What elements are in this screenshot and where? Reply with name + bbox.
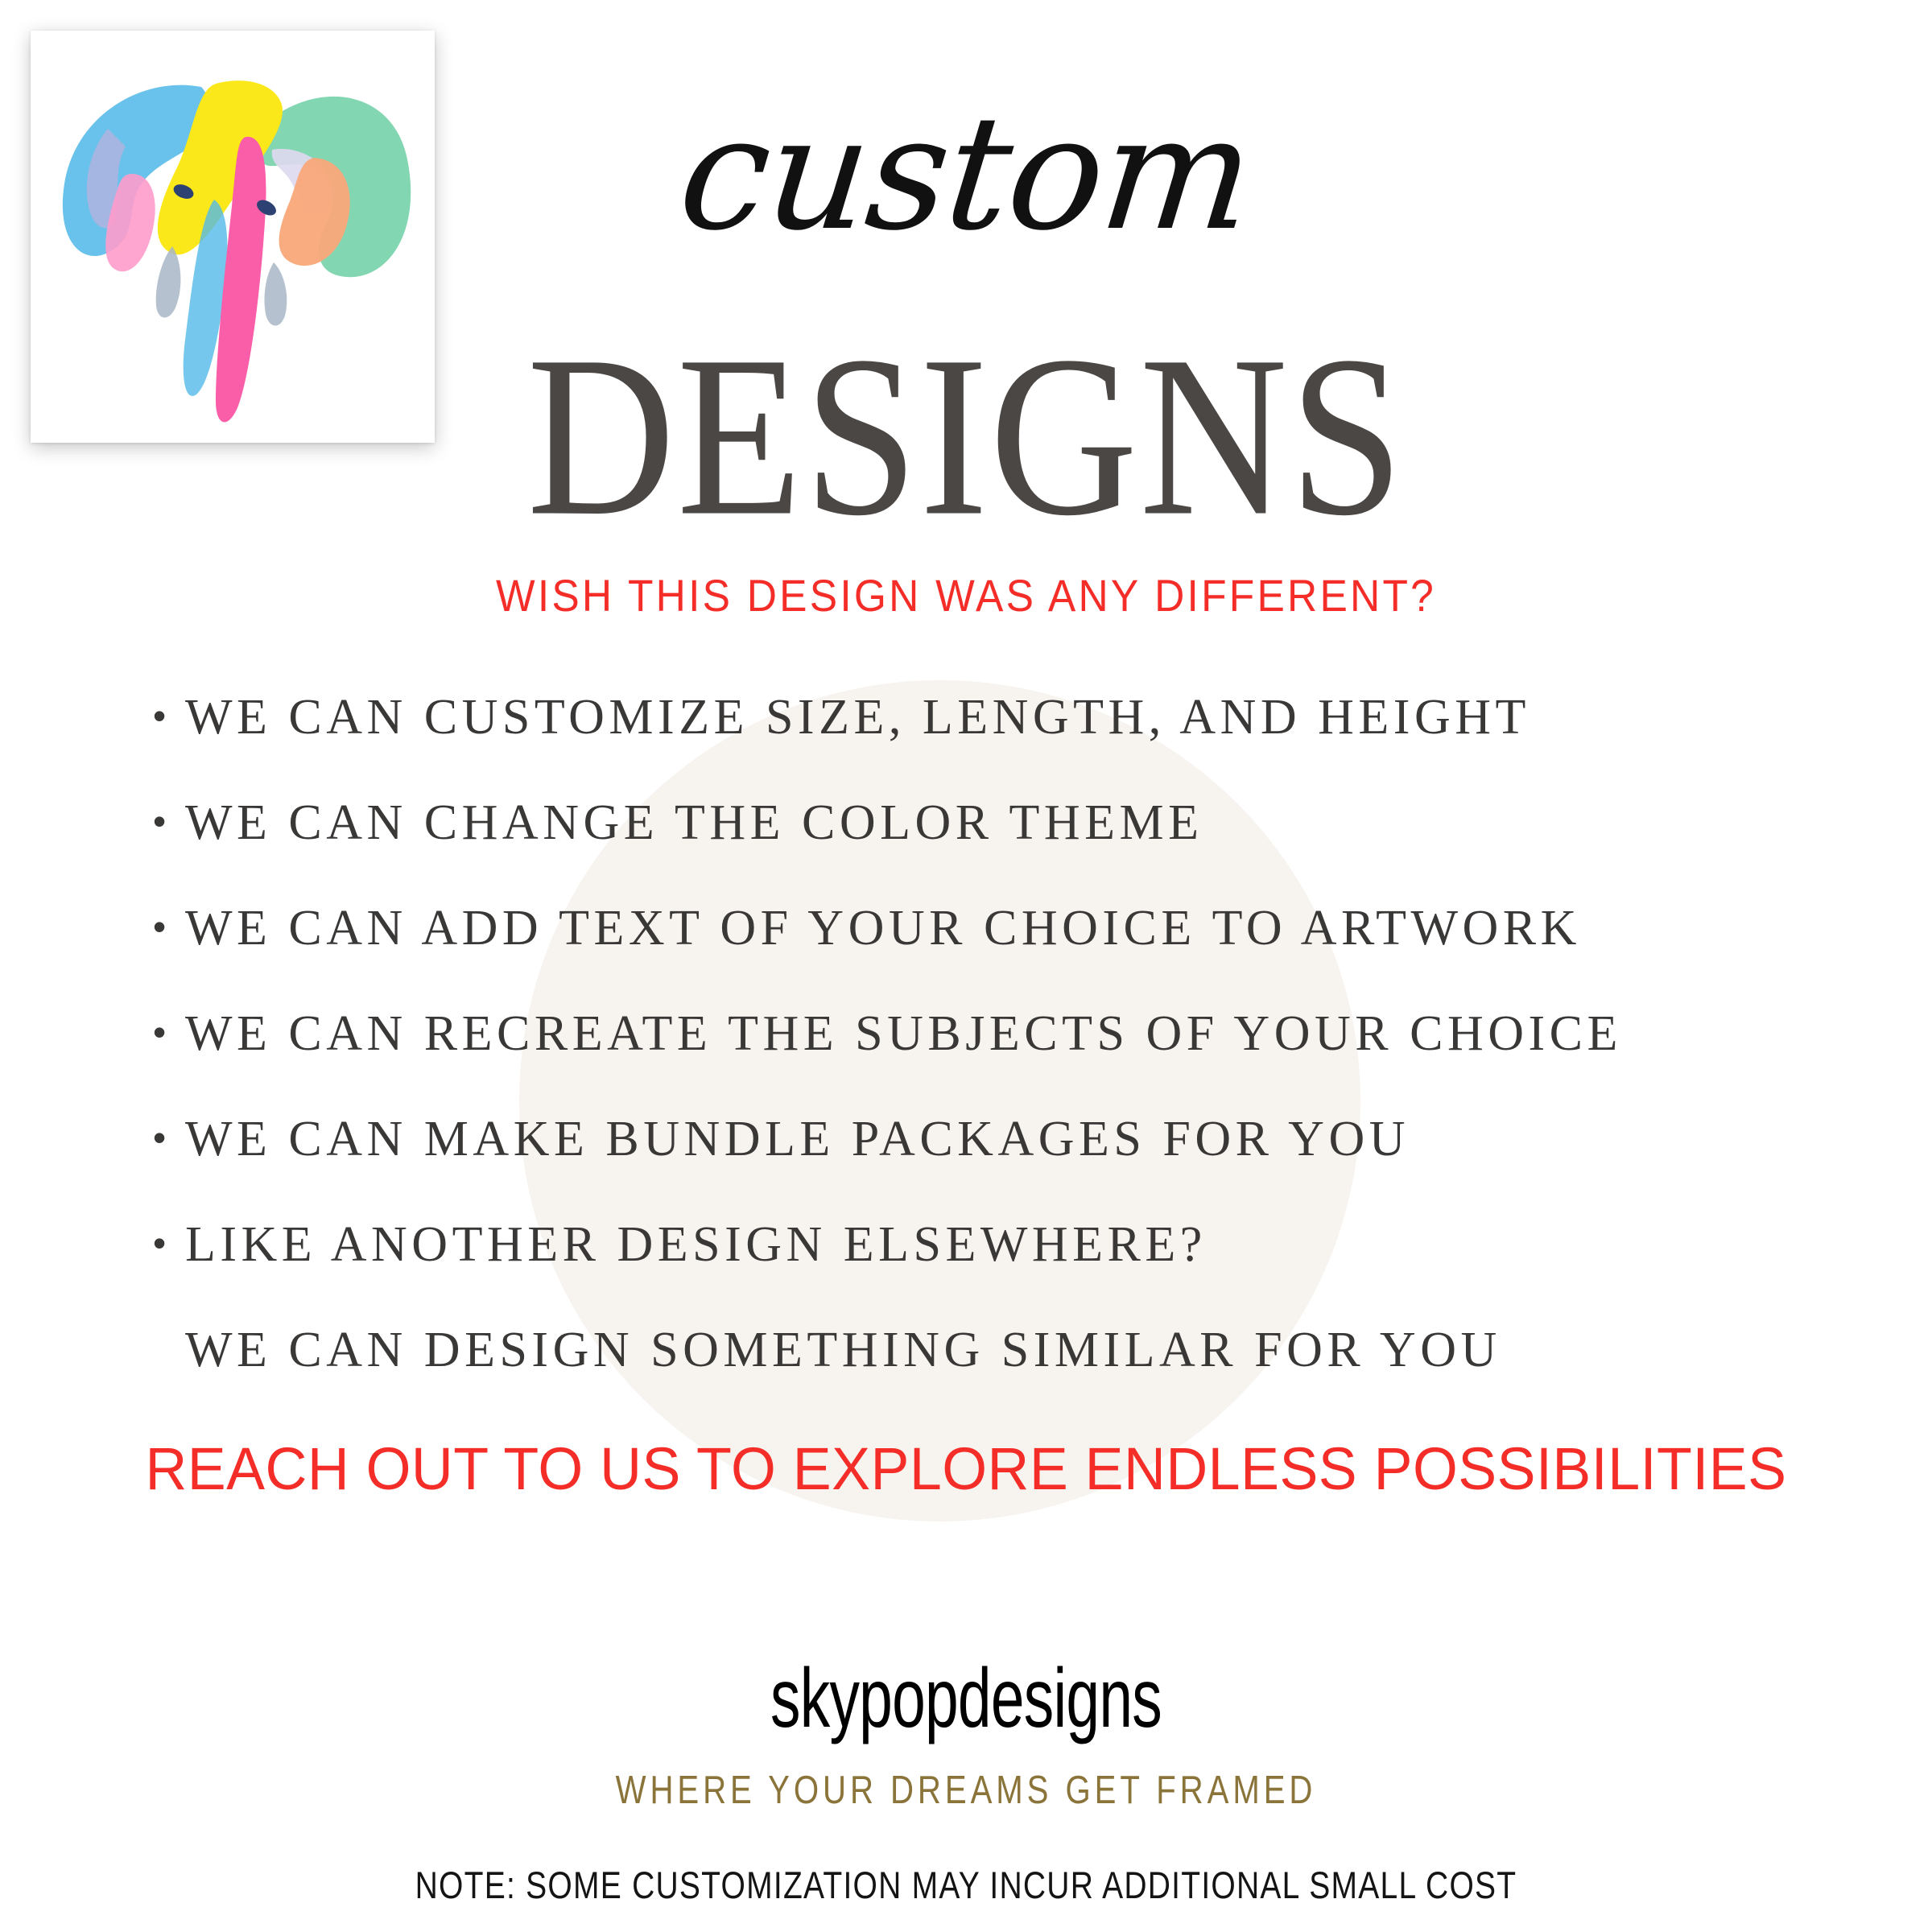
- bullet-dot-icon: •: [153, 908, 185, 945]
- list-item-label: WE CAN CHANGE THE COLOR THEME: [185, 798, 1203, 848]
- list-item: • WE CAN RECREATE THE SUBJECTS OF YOUR C…: [153, 1009, 1868, 1114]
- footer-note: NOTE: SOME CUSTOMIZATION MAY INCUR ADDIT…: [164, 1866, 1768, 1904]
- list-item: • WE CAN ADD TEXT OF YOUR CHOICE TO ARTW…: [153, 903, 1868, 1009]
- list-item-label: WE CAN RECREATE THE SUBJECTS OF YOUR CHO…: [185, 1009, 1622, 1059]
- brand-tagline: WHERE YOUR DREAMS GET FRAMED: [174, 1771, 1758, 1810]
- abstract-brushstroke-artwork-icon: [31, 31, 435, 443]
- list-item-continuation-label: WE CAN DESIGN SOMETHING SIMILAR FOR YOU: [185, 1325, 1501, 1375]
- bullet-dot-icon: •: [153, 803, 185, 840]
- bullet-dot-icon: •: [153, 1224, 185, 1261]
- call-to-action-text: REACH OUT TO US TO EXPLORE ENDLESS POSSI…: [29, 1439, 1903, 1499]
- bullet-dot-icon: •: [153, 697, 185, 734]
- list-item-label: WE CAN ADD TEXT OF YOUR CHOICE TO ARTWOR…: [185, 903, 1581, 953]
- brand-name: skypopdesigns: [270, 1657, 1662, 1740]
- list-item-label: LIKE ANOTHER DESIGN ELSEWHERE?: [185, 1220, 1207, 1269]
- list-item: • WE CAN CUSTOMIZE SIZE, LENGTH, AND HEI…: [153, 692, 1868, 798]
- list-item: • LIKE ANOTHER DESIGN ELSEWHERE?: [153, 1220, 1868, 1325]
- list-item-label: WE CAN CUSTOMIZE SIZE, LENGTH, AND HEIGH…: [185, 692, 1530, 742]
- list-item: • WE CAN CHANGE THE COLOR THEME: [153, 798, 1868, 903]
- artwork-thumbnail-card[interactable]: [31, 31, 435, 443]
- page-subtitle: WISH THIS DESIGN WAS ANY DIFFERENT?: [77, 573, 1855, 618]
- bullet-dot-icon: •: [153, 1013, 185, 1051]
- bullet-dot-icon: •: [153, 1119, 185, 1156]
- list-item-label: WE CAN MAKE BUNDLE PACKAGES FOR YOU: [185, 1114, 1410, 1164]
- list-item-continuation: WE CAN DESIGN SOMETHING SIMILAR FOR YOU: [153, 1325, 1868, 1423]
- list-item: • WE CAN MAKE BUNDLE PACKAGES FOR YOU: [153, 1114, 1868, 1220]
- feature-bullet-list: • WE CAN CUSTOMIZE SIZE, LENGTH, AND HEI…: [153, 692, 1868, 1423]
